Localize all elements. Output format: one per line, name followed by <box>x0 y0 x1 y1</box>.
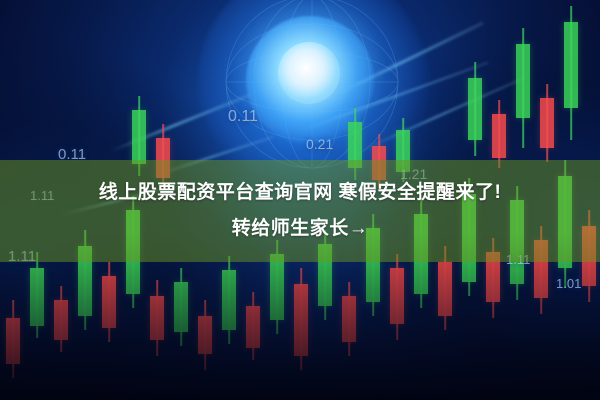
stock-market-banner-image: 0.110.210.111.211.111.111.111.01 线上股票配资平… <box>0 0 600 400</box>
price-label: 0.21 <box>306 136 333 152</box>
headline-line-1: 线上股票配资平台查询官网 寒假安全提醒来了! <box>99 178 502 208</box>
price-label: 0.11 <box>228 108 258 126</box>
headline-line-2: 转给师生家长→ <box>232 214 369 244</box>
headline-banner: 线上股票配资平台查询官网 寒假安全提醒来了! 转给师生家长→ <box>0 160 600 262</box>
price-label: 1.01 <box>556 276 581 291</box>
